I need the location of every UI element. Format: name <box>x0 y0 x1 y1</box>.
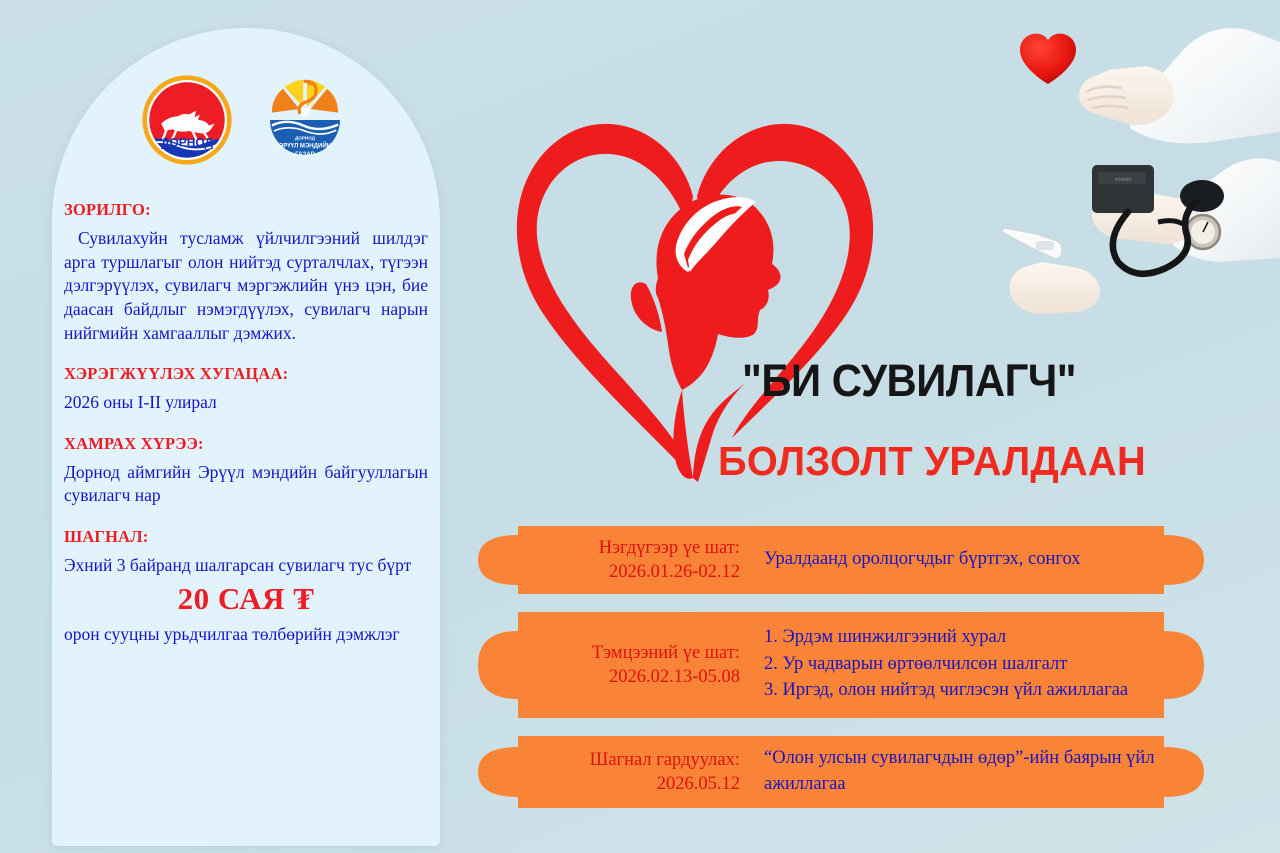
bp-tubing <box>1113 202 1196 274</box>
section-scope-body: Дорнод аймгийн Эрүүл мэндийн байгууллагы… <box>64 461 428 508</box>
banner-description-list: 1. Эрдэм шинжилгээний хурал 2. Ур чадвар… <box>750 625 1158 706</box>
banner-stage-label: Тэмцээний үе шат: <box>592 643 740 663</box>
section-prize-body-after: орон сууцны урьдчилгаа төлбөрийн дэмжлэг <box>64 623 428 647</box>
banner-stage-date: 2026.05.12 <box>518 772 740 796</box>
poster-title-sub: БОЛЗОЛТ УРАЛДААН <box>718 438 1146 485</box>
section-prize-body-before: Эхний 3 байранд шалгарсан сувилагч тус б… <box>64 554 428 578</box>
info-panel: ДОРНОД <box>52 28 440 846</box>
poster-title-main: "БИ СУВИЛАГЧ" <box>742 355 1076 407</box>
section-scope: ХАМРАХ ХҮРЭЭ: Дорнод аймгийн Эрүүл мэнди… <box>64 434 428 508</box>
section-period-heading: ХЭРЭГЖҮҮЛЭХ ХУГАЦАА: <box>64 364 428 384</box>
medical-photo-scene: monitor <box>980 0 1280 330</box>
section-period-body: 2026 оны I-II улирал <box>64 391 428 415</box>
hand-holding-thermometer-icon <box>1010 262 1100 314</box>
section-goal-body: Сувилахуйн тусламж үйлчилгээний шилдэг а… <box>64 227 428 345</box>
bp-bulb-icon <box>1180 180 1224 212</box>
logo-row: ДОРНОД <box>52 74 440 166</box>
section-scope-heading: ХАМРАХ ХҮРЭЭ: <box>64 434 428 454</box>
banner-stage-block: Нэгдүгээр үе шат: 2026.01.26-02.12 <box>518 536 750 585</box>
banner-list-item: 2. Ур чадварын өртөөлчилсөн шалгалт <box>764 652 1158 678</box>
white-coat-sleeve-lower <box>1168 158 1280 262</box>
health-logo-line2: ЭРҮҮЛ МЭНДИЙН <box>279 142 331 150</box>
banner-description: “Олон улсын сувилагчдын өдөр”-ийн баярын… <box>750 746 1158 798</box>
banner-stage-block: Шагнал гардуулах: 2026.05.12 <box>518 748 750 797</box>
hand-holding-blood-pressure-cuff-icon <box>1092 190 1200 244</box>
timeline-banner: Нэгдүгээр үе шат: 2026.01.26-02.12 Уралд… <box>478 523 1204 597</box>
banner-stage-block: Тэмцээний үе шат: 2026.02.13-05.08 <box>518 641 750 690</box>
dornod-logo-text: ДОРНОД <box>161 136 214 150</box>
heart-nurse-silhouette <box>480 78 910 488</box>
banner-list-item: 3. Иргэд, олон нийтэд чиглэсэн үйл ажилл… <box>764 678 1158 704</box>
blood-pressure-monitor-icon <box>1092 165 1154 213</box>
panel-sections: ЗОРИЛГО: Сувилахуйн тусламж үйлчилгээний… <box>64 200 428 665</box>
banner-list-item: 1. Эрдэм шинжилгээний хурал <box>764 625 1158 651</box>
health-logo-line1: ДОРНОД <box>295 135 316 140</box>
banner-stage-label: Нэгдүгээр үе шат: <box>599 538 740 558</box>
timeline-banner: Тэмцээний үе шат: 2026.02.13-05.08 1. Эр… <box>478 609 1204 721</box>
hand-holding-red-heart-icon <box>1079 66 1174 125</box>
red-heart-icon <box>1020 34 1076 84</box>
health-logo-line3: ГАЗАР <box>295 152 315 158</box>
dornod-province-logo: ДОРНОД <box>141 74 233 166</box>
section-prize-heading: ШАГНАЛ: <box>64 527 428 547</box>
timeline-banner-list: Нэгдүгээр үе шат: 2026.01.26-02.12 Уралд… <box>478 523 1204 823</box>
section-prize: ШАГНАЛ: Эхний 3 байранд шалгарсан сувила… <box>64 527 428 646</box>
section-goal: ЗОРИЛГО: Сувилахуйн тусламж үйлчилгээний… <box>64 200 428 345</box>
dornod-health-department-logo: ДОРНОД ЭРҮҮЛ МЭНДИЙН ГАЗАР <box>259 74 351 166</box>
prize-amount: 20 САЯ ₮ <box>64 581 428 617</box>
banner-stage-date: 2026.02.13-05.08 <box>518 665 740 689</box>
timeline-banner: Шагнал гардуулах: 2026.05.12 “Олон улсын… <box>478 733 1204 811</box>
bp-gauge-icon <box>1186 215 1220 249</box>
svg-text:monitor: monitor <box>1115 177 1132 183</box>
section-goal-heading: ЗОРИЛГО: <box>64 200 428 220</box>
thermometer-icon <box>1002 228 1062 258</box>
banner-stage-date: 2026.01.26-02.12 <box>518 560 740 584</box>
banner-description: Уралдаанд оролцогчдыг бүртгэх, сонгох <box>750 547 1158 573</box>
poster-canvas: monitor <box>0 0 1280 853</box>
section-period: ХЭРЭГЖҮҮЛЭХ ХУГАЦАА: 2026 оны I-II улира… <box>64 364 428 415</box>
white-coat-sleeve <box>1130 28 1280 143</box>
banner-stage-label: Шагнал гардуулах: <box>590 750 740 770</box>
